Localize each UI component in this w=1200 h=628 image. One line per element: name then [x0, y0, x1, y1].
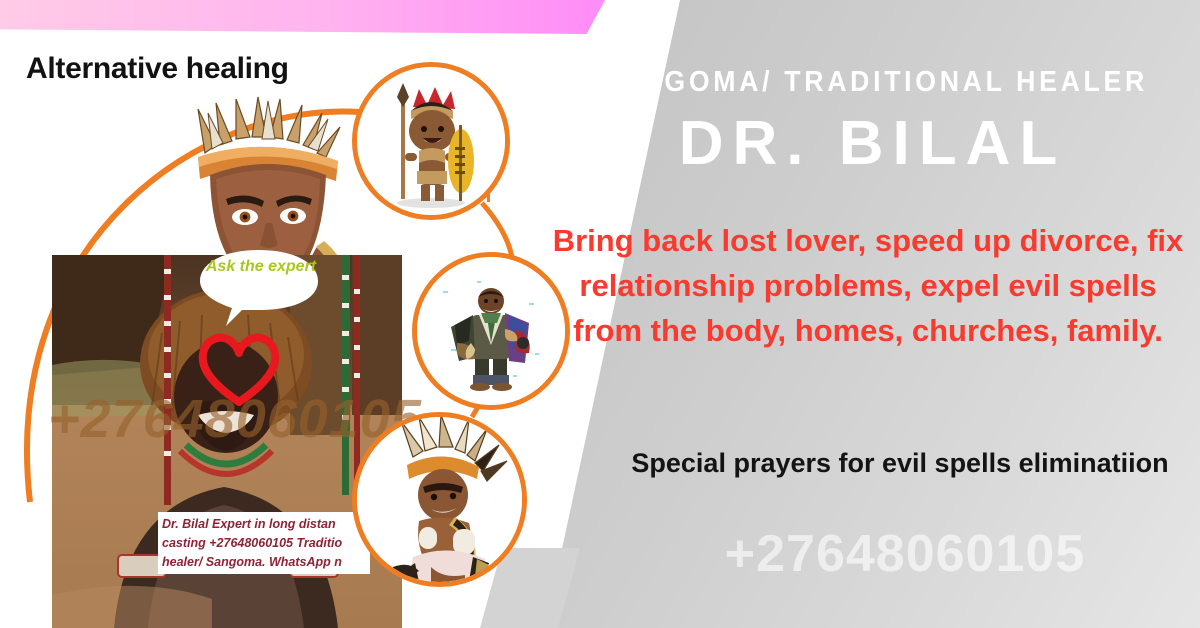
zulu-dancer-illustration-icon — [357, 417, 522, 582]
caption-line-2: casting +27648060105 Traditio — [162, 534, 366, 553]
services-text: Bring back lost lover, speed up divorce,… — [548, 218, 1188, 353]
zulu-warrior-illustration-icon — [357, 67, 505, 215]
circle-zulu-dancer — [352, 412, 527, 587]
traditional-healer-illustration-icon — [417, 257, 565, 405]
pink-accent-bar — [0, 0, 605, 34]
speech-bubble-label: Ask the expert — [205, 256, 317, 278]
red-heart-outline-icon — [195, 330, 283, 408]
photo-caption-box: Dr. Bilal Expert in long distan casting … — [158, 512, 370, 574]
kicker-heading: SANGOMA/ TRADITIONAL HEALER — [585, 66, 1160, 99]
ghost-phone-number: +27648060105 — [620, 524, 1190, 584]
caption-line-3: healer/ Sangoma. WhatsApp n — [162, 553, 366, 572]
circle-traditional-healer — [412, 252, 570, 410]
offer-text: Special prayers for evil spells eliminat… — [610, 442, 1190, 485]
poster-canvas: Alternative healing — [0, 0, 1200, 628]
brand-name: DR. BILAL — [560, 108, 1185, 179]
caption-line-1: Dr. Bilal Expert in long distan — [162, 515, 366, 534]
circle-zulu-warrior — [352, 62, 510, 220]
